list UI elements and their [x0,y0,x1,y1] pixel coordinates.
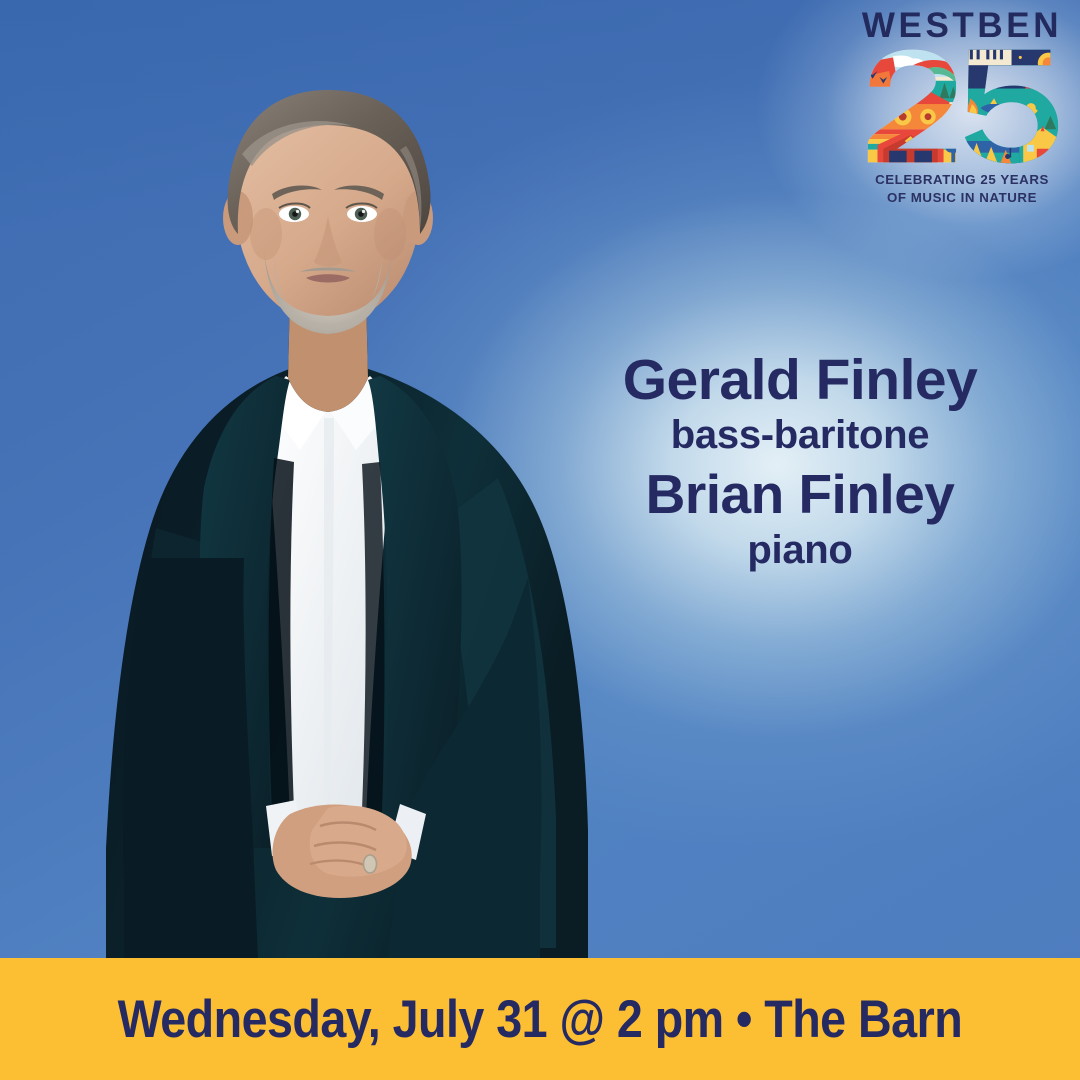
logo-digit-5-artwork [961,48,1064,165]
logo-tagline-line2: OF MUSIC IN NATURE [887,190,1037,205]
artist-two-name: Brian Finley [560,467,1040,522]
logo-tagline-line1: CELEBRATING 25 YEARS [875,172,1049,187]
westben-logo: WESTBEN [860,8,1064,207]
logo-wordmark: WESTBEN [860,8,1064,43]
performer-credits: Gerald Finley bass-baritone Brian Finley… [560,352,1040,570]
logo-25-numeral-icon [860,47,1064,165]
event-details-text: Wednesday, July 31 @ 2 pm • The Barn [118,989,963,1050]
logo-tagline: CELEBRATING 25 YEARS OF MUSIC IN NATURE [860,171,1064,207]
artist-one-name: Gerald Finley [560,352,1040,409]
concert-poster: WESTBEN [0,0,1080,1080]
logo-digit-2-artwork [860,48,962,165]
artist-two-role: piano [560,530,1040,570]
artist-one-role: bass-baritone [560,415,1040,455]
event-details-banner: Wednesday, July 31 @ 2 pm • The Barn [0,958,1080,1080]
artist-portrait-photo [28,58,628,958]
